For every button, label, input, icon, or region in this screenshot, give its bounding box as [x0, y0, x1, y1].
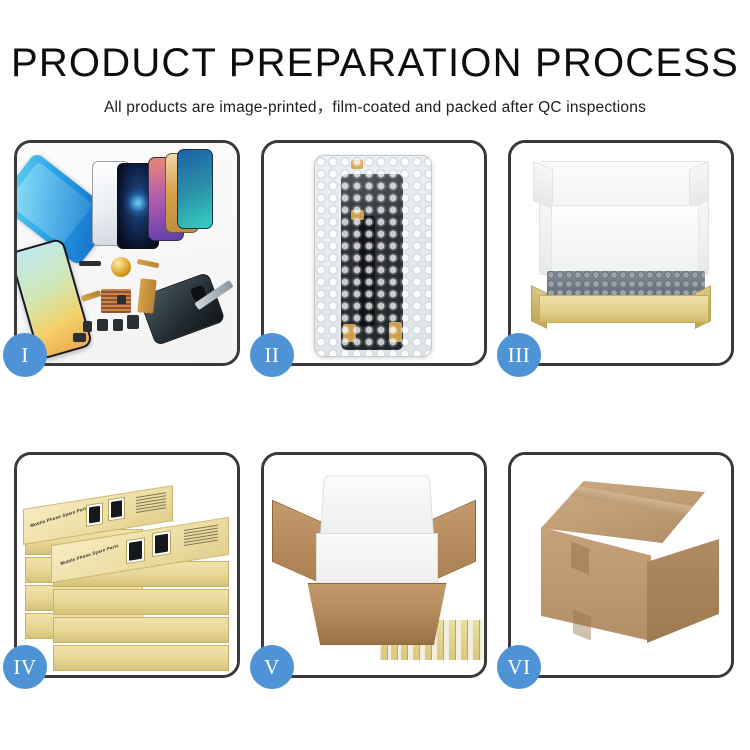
carton-side-face [647, 539, 719, 643]
process-step-1[interactable]: I [14, 140, 240, 366]
box-window-1 [86, 502, 103, 527]
box-window-3 [126, 537, 145, 564]
box-window-4 [152, 530, 171, 557]
page-subtitle: All products are image-printed，film-coat… [0, 95, 750, 117]
box-label-1: Mobile Phone Spare Parts [30, 505, 89, 528]
foam-box-lid-graphic [320, 475, 435, 541]
box-lid-right-flap-graphic [689, 161, 709, 209]
tape-piece-graphic [351, 160, 363, 169]
page-title: PRODUCT PREPARATION PROCESS [0, 42, 750, 84]
box-spec-lines-1 [136, 492, 166, 515]
box-front-panel-graphic [539, 295, 709, 323]
panel-image-sealed-carton [511, 455, 731, 675]
screen-flex-cable-graphic [359, 216, 375, 326]
carton-body-graphic [298, 583, 456, 645]
stacked-box [53, 589, 229, 615]
process-step-4[interactable]: Mobile Phone Spare Parts Mobile Phone Sp… [14, 452, 240, 678]
box-lid-left-flap-graphic [533, 161, 553, 209]
teal-phone-graphic [177, 149, 213, 229]
small-part-graphic [127, 315, 139, 329]
flex-cable-graphic [137, 259, 160, 268]
panel-image-stacked-retail-boxes: Mobile Phone Spare Parts Mobile Phone Sp… [17, 455, 237, 675]
sealed-carton-graphic [527, 481, 719, 649]
foam-box-graphic [316, 533, 438, 589]
process-step-2[interactable]: II [261, 140, 487, 366]
header: PRODUCT PREPARATION PROCESS All products… [0, 0, 750, 117]
logic-board-chip-graphic [101, 289, 131, 313]
panel-image-open-kraft-box [511, 143, 731, 363]
panel-image-carton-with-foam [264, 455, 484, 675]
bubble-wrap-bag-graphic [314, 155, 432, 357]
tape-piece-graphic [351, 210, 364, 220]
process-step-3[interactable]: III [508, 140, 734, 366]
flex-cable-graphic [81, 290, 102, 302]
product-preparation-infographic: PRODUCT PREPARATION PROCESS All products… [0, 0, 750, 750]
box-stack-graphic: Mobile Phone Spare Parts Mobile Phone Sp… [23, 469, 237, 669]
stacked-box [53, 645, 229, 671]
step-badge-5: V [250, 645, 294, 689]
panel-image-products-and-parts [17, 143, 237, 363]
step-badge-4: IV [3, 645, 47, 689]
bubble-wrapped-contents-graphic [547, 271, 705, 297]
process-step-5[interactable]: V [261, 452, 487, 678]
process-step-6[interactable]: VI [508, 452, 734, 678]
packing-tape-graphic [559, 483, 718, 521]
panel-image-bubble-wrapped-screen [264, 143, 484, 363]
small-part-graphic [117, 295, 126, 304]
tape-piece-graphic [343, 324, 356, 342]
small-part-graphic [97, 319, 108, 331]
box-label-2: Mobile Phone Spare Parts [60, 543, 119, 566]
small-part-graphic [113, 319, 123, 331]
step-badge-1: I [3, 333, 47, 377]
process-step-grid: I II [14, 140, 736, 680]
box-spec-lines-2 [184, 525, 218, 548]
small-part-graphic [83, 321, 92, 332]
step-badge-6: VI [497, 645, 541, 689]
speaker-module-graphic [111, 257, 131, 277]
box-window-2 [108, 497, 125, 522]
carton-front-face [541, 527, 651, 641]
step-badge-2: II [250, 333, 294, 377]
small-part-graphic [79, 261, 101, 266]
small-part-graphic [73, 333, 86, 342]
step-badge-3: III [497, 333, 541, 377]
tape-piece-graphic [389, 322, 402, 342]
stacked-box [53, 617, 229, 643]
foam-lining-graphic [551, 205, 699, 273]
